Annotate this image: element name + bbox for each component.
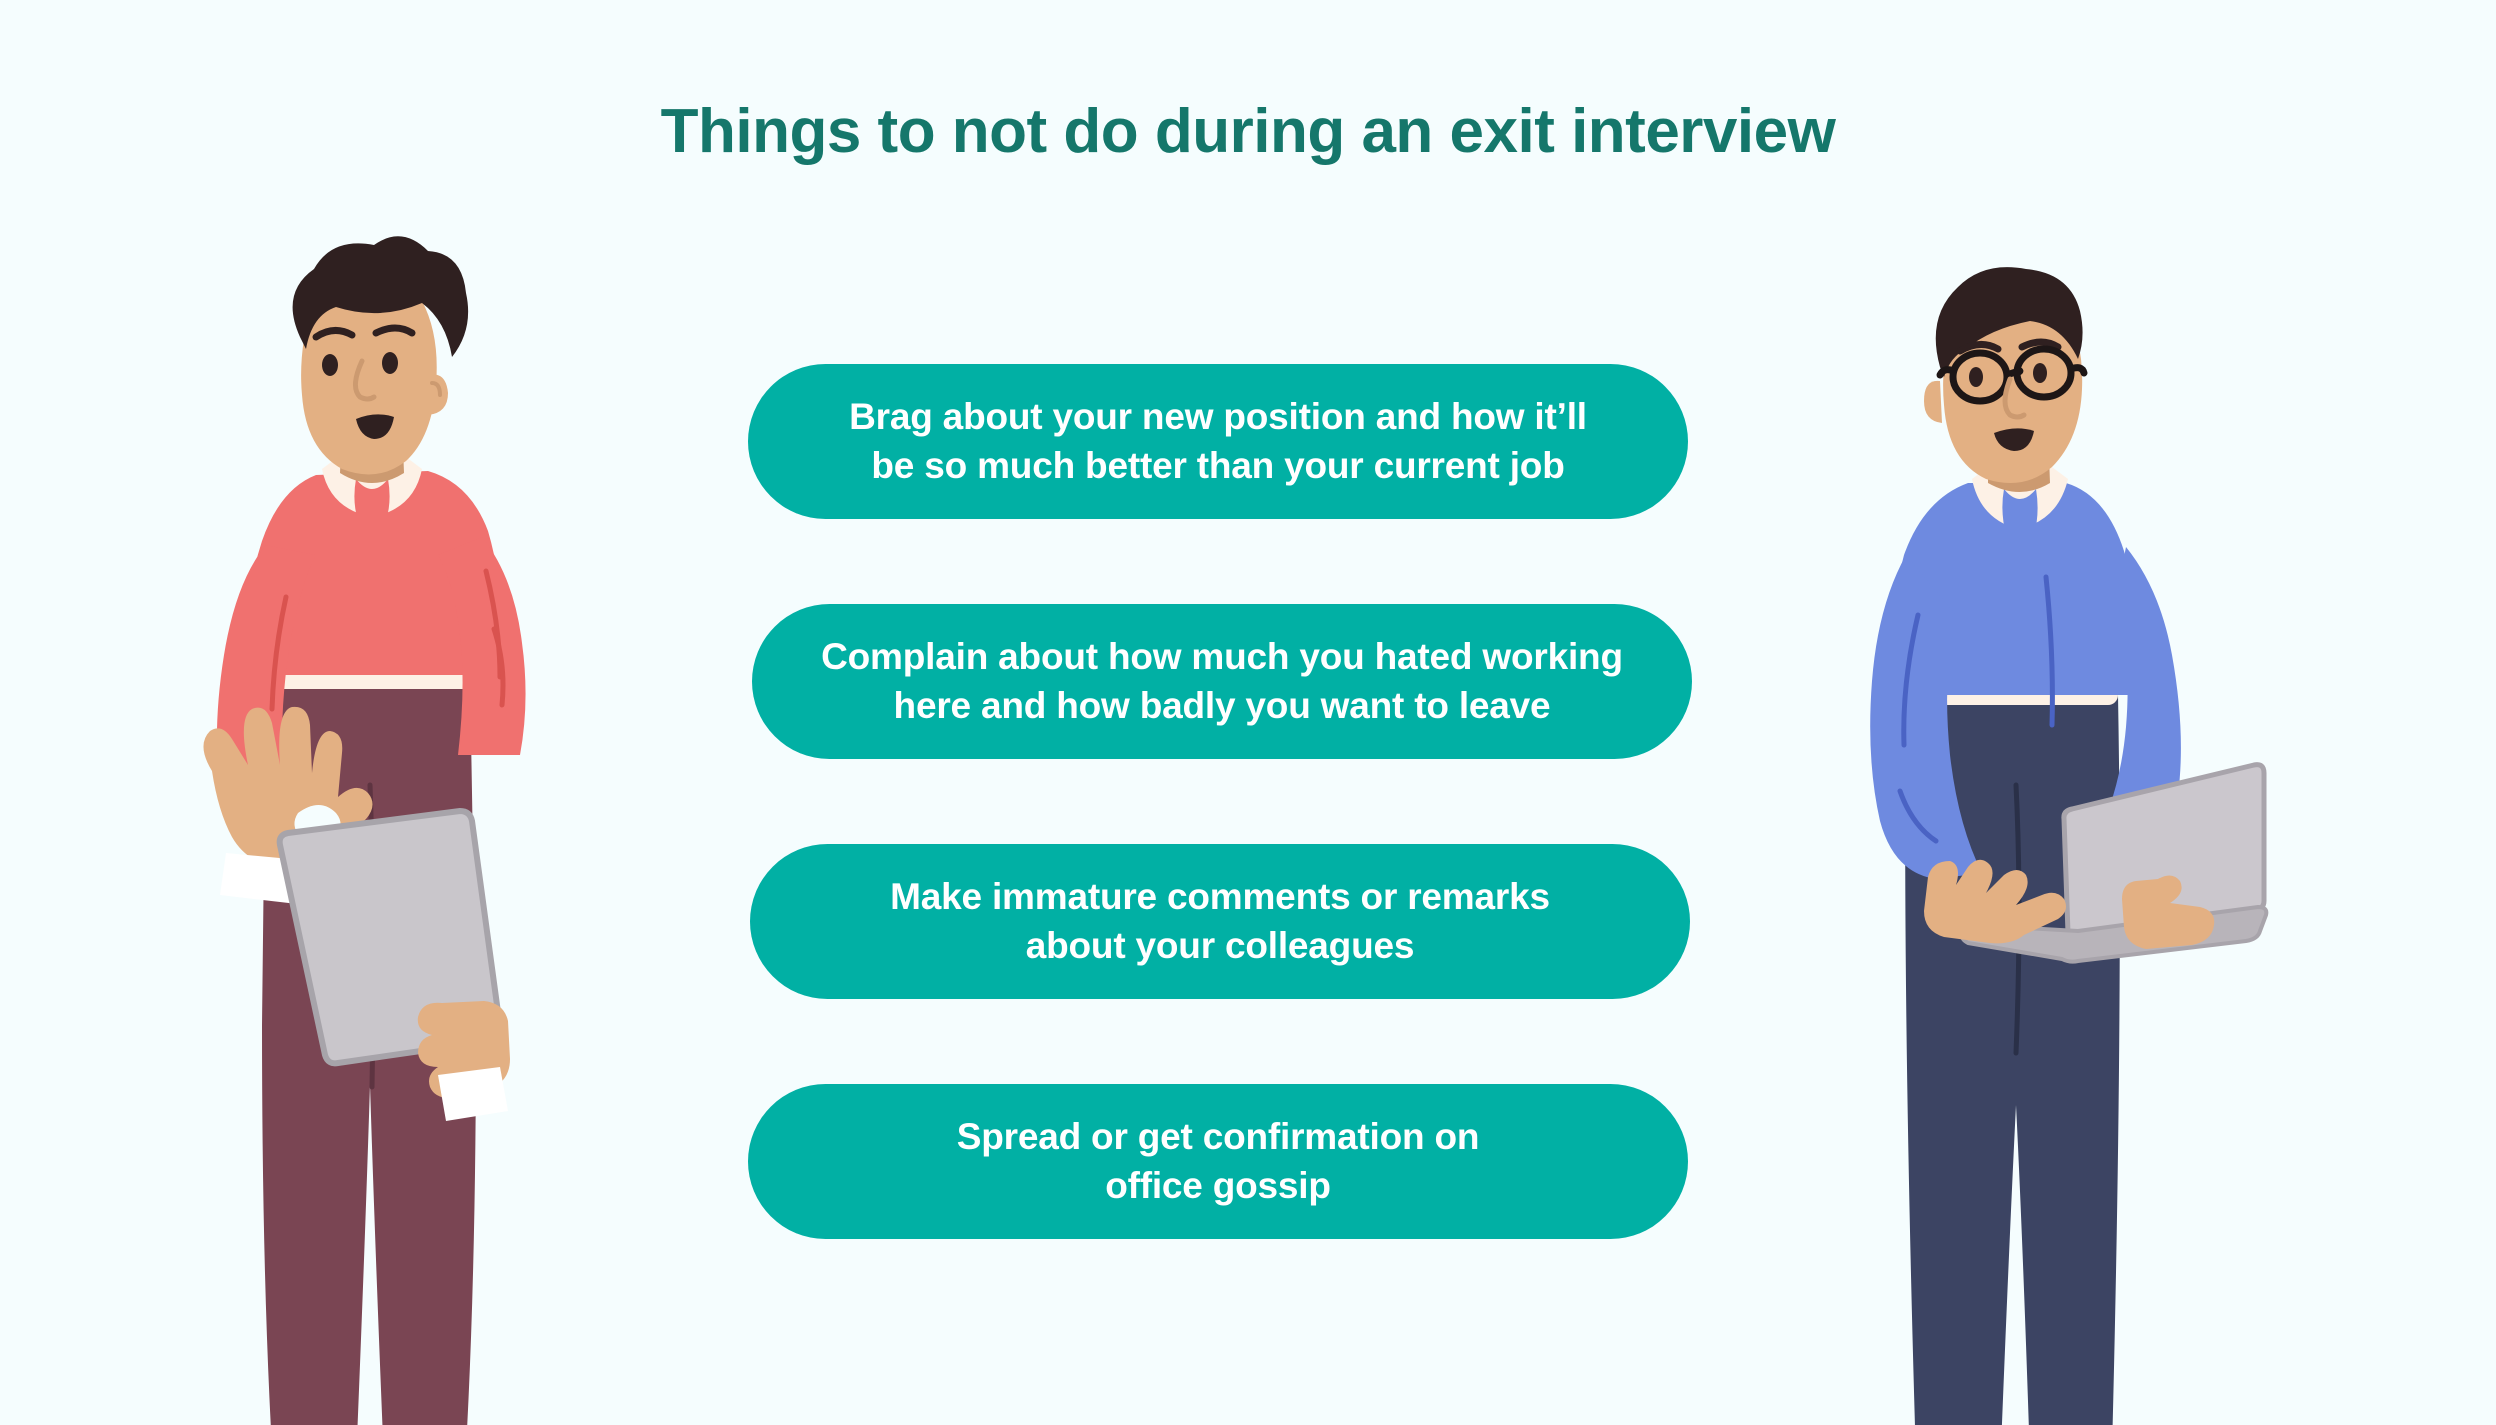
list-item[interactable]: Brag about your new position and how it’… xyxy=(748,364,1688,519)
infographic-canvas: Things to not do during an exit intervie… xyxy=(0,0,2496,1425)
page-title: Things to not do during an exit intervie… xyxy=(0,96,2496,167)
illustration-man-with-tablet xyxy=(170,225,570,1425)
head-right-man xyxy=(1924,267,2084,483)
list-item[interactable]: Complain about how much you hated workin… xyxy=(752,604,1692,759)
list-item-text: Spread or get confirmation on office gos… xyxy=(957,1113,1480,1211)
head-left-man xyxy=(293,236,469,474)
list-item-text: Complain about how much you hated workin… xyxy=(821,633,1623,731)
dont-do-list: Brag about your new position and how it’… xyxy=(748,364,1688,1324)
list-item[interactable]: Spread or get confirmation on office gos… xyxy=(748,1084,1688,1239)
list-item-text: Brag about your new position and how it’… xyxy=(849,393,1587,491)
list-item[interactable]: Make immature comments or remarks about … xyxy=(750,844,1690,999)
list-item-text: Make immature comments or remarks about … xyxy=(890,873,1550,971)
illustration-man-with-laptop xyxy=(1840,225,2270,1425)
